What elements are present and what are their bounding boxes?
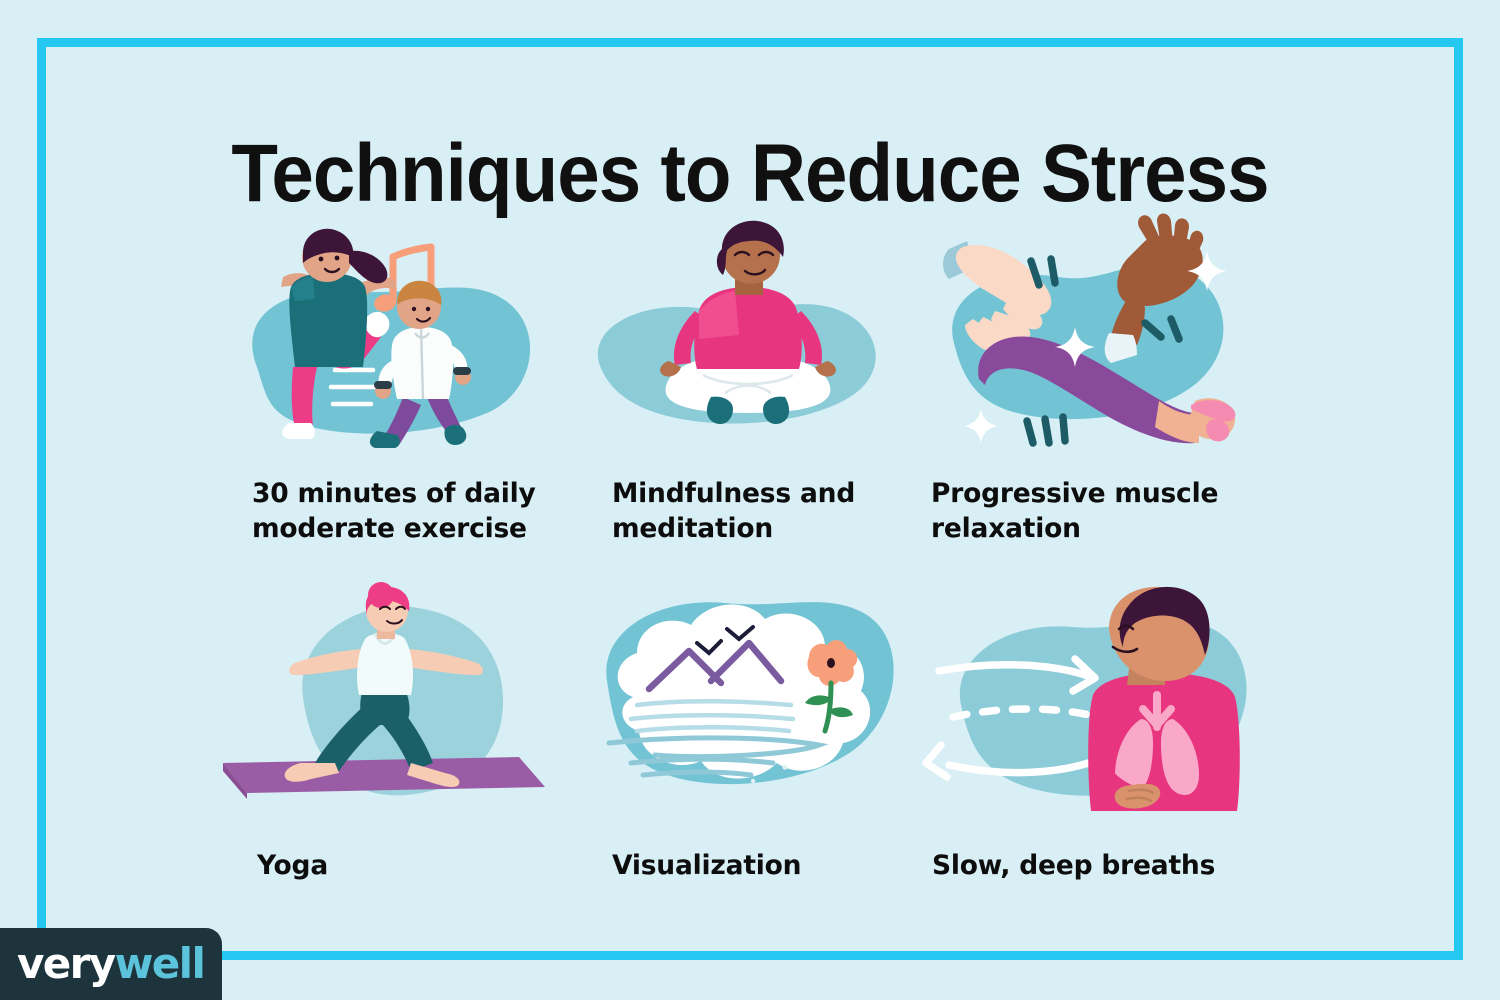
technique-label-yoga: Yoga [257, 848, 565, 883]
technique-card-exercise: 30 minutes of daily moderate exercise [215, 215, 565, 546]
logo-wordmark: verywell [17, 943, 204, 985]
people-exercising-illustration [215, 215, 565, 460]
technique-card-mindfulness: Mindfulness and meditation [575, 215, 925, 546]
technique-label-exercise: 30 minutes of daily moderate exercise [252, 476, 565, 546]
technique-label-mindfulness: Mindfulness and meditation [612, 476, 925, 546]
technique-card-breathing: Slow, deep breaths [923, 585, 1273, 883]
hands-and-leg-relaxation-illustration [923, 215, 1273, 460]
technique-label-visualization: Visualization [612, 848, 925, 883]
technique-label-pmr: Progressive muscle relaxation [931, 476, 1273, 546]
verywell-logo[interactable]: verywell [0, 928, 222, 1000]
technique-card-visualization: Visualization [575, 585, 925, 883]
infographic-canvas: Techniques to Reduce Stress [0, 0, 1500, 1000]
person-deep-breathing-lungs-illustration [923, 585, 1273, 830]
techniques-grid: 30 minutes of daily moderate exercise [215, 215, 1290, 915]
technique-label-breathing: Slow, deep breaths [932, 848, 1273, 883]
logo-text-very: very [17, 939, 115, 988]
technique-card-pmr: Progressive muscle relaxation [923, 215, 1273, 546]
person-meditating-illustration [575, 215, 925, 460]
logo-text-well: well [115, 939, 205, 988]
page-title: Techniques to Reduce Stress [53, 133, 1448, 215]
technique-card-yoga: Yoga [215, 585, 565, 883]
person-yoga-warrior-pose-illustration [215, 585, 565, 830]
cloud-landscape-thought-illustration [575, 585, 925, 830]
